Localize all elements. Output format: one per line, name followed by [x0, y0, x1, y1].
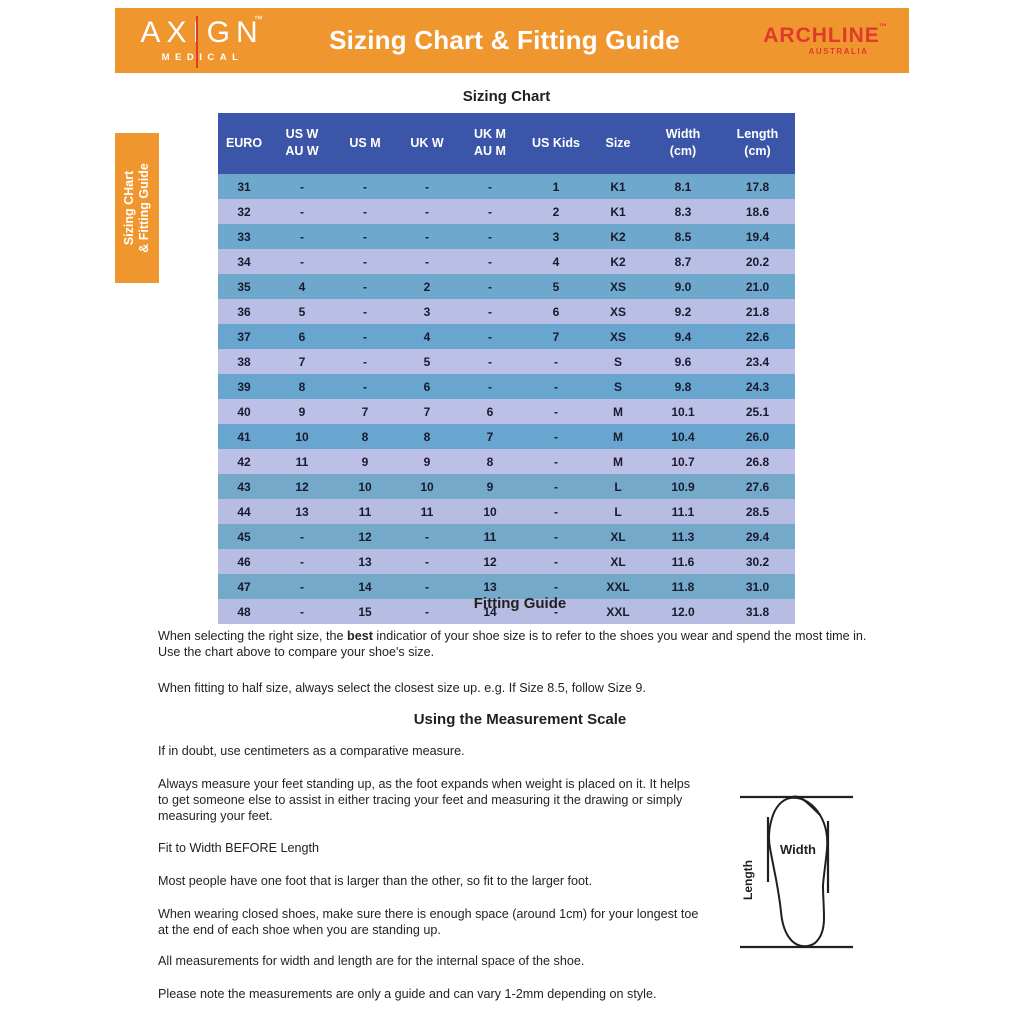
table-cell: -	[458, 249, 522, 274]
table-cell: 9.6	[646, 349, 720, 374]
column-header-euro: EURO	[218, 113, 270, 174]
table-cell: 13	[270, 499, 334, 524]
table-cell: K2	[590, 249, 646, 274]
table-row: 398-6--S9.824.3	[218, 374, 795, 399]
table-cell: -	[522, 524, 590, 549]
table-cell: 25.1	[720, 399, 795, 424]
column-header-line: US W	[270, 127, 334, 142]
table-cell: 27.6	[720, 474, 795, 499]
table-cell: 8.1	[646, 174, 720, 199]
column-header-line: EURO	[218, 136, 270, 151]
table-cell: -	[522, 349, 590, 374]
table-cell: 26.0	[720, 424, 795, 449]
table-cell: 35	[218, 274, 270, 299]
column-header-line: US Kids	[522, 136, 590, 151]
table-cell: 22.6	[720, 324, 795, 349]
table-cell: 40	[218, 399, 270, 424]
measurement-paragraph-1: If in doubt, use centimeters as a compar…	[158, 743, 876, 759]
table-cell: 10	[270, 424, 334, 449]
column-header-line: UK W	[396, 136, 458, 151]
table-cell: 24.3	[720, 374, 795, 399]
table-cell: K1	[590, 199, 646, 224]
table-cell: 31	[218, 174, 270, 199]
table-cell: 11.1	[646, 499, 720, 524]
table-cell: -	[396, 199, 458, 224]
table-cell: 26.8	[720, 449, 795, 474]
table-cell: K1	[590, 174, 646, 199]
table-row: 409776-M10.125.1	[218, 399, 795, 424]
fitting-guide-p1-emphasis: best	[347, 629, 373, 643]
table-cell: -	[522, 424, 590, 449]
table-cell: 9	[334, 449, 396, 474]
column-header-us-m: US M	[334, 113, 396, 174]
measurement-paragraph-4: Most people have one foot that is larger…	[158, 873, 703, 889]
table-row: 365-3-6XS9.221.8	[218, 299, 795, 324]
axign-medical-logo: AXIGN™ MEDICAL	[115, 18, 285, 63]
table-cell: 7	[334, 399, 396, 424]
table-cell: 28.5	[720, 499, 795, 524]
table-cell: -	[396, 174, 458, 199]
table-cell: 10	[396, 474, 458, 499]
table-cell: 42	[218, 449, 270, 474]
archline-subtitle: AUSTRALIA	[768, 48, 909, 56]
table-cell: 6	[396, 374, 458, 399]
table-cell: 32	[218, 199, 270, 224]
table-cell: K2	[590, 224, 646, 249]
sizing-chart-head: EUROUS WAU WUS MUK WUK MAU MUS KidsSizeW…	[218, 113, 795, 174]
table-cell: -	[334, 249, 396, 274]
table-cell: S	[590, 349, 646, 374]
side-tab-label-line2: & Fitting Guide	[137, 163, 152, 253]
table-cell: XS	[590, 299, 646, 324]
column-header-width: Width(cm)	[646, 113, 720, 174]
foot-width-label: Width	[780, 842, 816, 857]
table-cell: -	[334, 274, 396, 299]
table-cell: M	[590, 399, 646, 424]
table-cell: -	[522, 499, 590, 524]
table-cell: 8.7	[646, 249, 720, 274]
table-cell: 11.6	[646, 549, 720, 574]
table-cell: -	[334, 324, 396, 349]
table-cell: 8.3	[646, 199, 720, 224]
column-header-us-w: US WAU W	[270, 113, 334, 174]
column-header-length: Length(cm)	[720, 113, 795, 174]
table-cell: 10	[458, 499, 522, 524]
column-header-line: Width	[646, 127, 720, 142]
column-header-size: Size	[590, 113, 646, 174]
table-cell: 23.4	[720, 349, 795, 374]
table-cell: 6	[270, 324, 334, 349]
table-cell: 20.2	[720, 249, 795, 274]
table-cell: 5	[270, 299, 334, 324]
table-cell: 11	[334, 499, 396, 524]
archline-trademark-icon: ™	[879, 23, 888, 31]
table-cell: 44	[218, 499, 270, 524]
table-cell: -	[458, 224, 522, 249]
table-cell: 4	[270, 274, 334, 299]
column-header-line: UK M	[458, 127, 522, 142]
sizing-chart-title: Sizing Chart	[218, 88, 795, 105]
table-cell: -	[396, 524, 458, 549]
archline-wordmark: ARCHLINE™	[763, 25, 880, 46]
table-cell: 11	[458, 524, 522, 549]
table-cell: 9.4	[646, 324, 720, 349]
side-tab-sizing-chart[interactable]: Sizing CHart & Fitting Guide	[115, 133, 159, 283]
measurement-paragraph-7: Please note the measurements are only a …	[158, 986, 703, 1002]
table-cell: 41	[218, 424, 270, 449]
table-cell: 3	[522, 224, 590, 249]
table-cell: 6	[458, 399, 522, 424]
table-cell: 9	[396, 449, 458, 474]
table-cell: 8	[334, 424, 396, 449]
table-cell: 5	[396, 349, 458, 374]
table-cell: 4	[396, 324, 458, 349]
table-cell: -	[334, 374, 396, 399]
table-row: 4110887-M10.426.0	[218, 424, 795, 449]
table-cell: 6	[522, 299, 590, 324]
table-cell: 43	[218, 474, 270, 499]
archline-wordmark-text: ARCHLINE	[763, 24, 880, 47]
table-cell: -	[458, 199, 522, 224]
table-cell: -	[458, 349, 522, 374]
column-header-line: (cm)	[720, 144, 795, 159]
table-cell: 2	[396, 274, 458, 299]
table-cell: 9.8	[646, 374, 720, 399]
table-cell: -	[334, 224, 396, 249]
column-header-line: Length	[720, 127, 795, 142]
table-cell: -	[334, 299, 396, 324]
table-cell: 3	[396, 299, 458, 324]
fitting-guide-p1-part1: When selecting the right size, the	[158, 629, 347, 643]
table-cell: 4	[522, 249, 590, 274]
table-cell: 12	[334, 524, 396, 549]
fitting-guide-paragraph-2: When fitting to half size, always select…	[158, 680, 876, 696]
table-row: 387-5--S9.623.4	[218, 349, 795, 374]
table-cell: 37	[218, 324, 270, 349]
archline-australia-logo: ARCHLINE™ AUSTRALIA	[734, 25, 909, 56]
table-cell: 5	[522, 274, 590, 299]
table-cell: XS	[590, 324, 646, 349]
table-cell: -	[334, 349, 396, 374]
page-header: AXIGN™ MEDICAL Sizing Chart & Fitting Gu…	[115, 8, 909, 73]
table-header-row: EUROUS WAU WUS MUK WUK MAU MUS KidsSizeW…	[218, 113, 795, 174]
table-cell: 19.4	[720, 224, 795, 249]
table-cell: 46	[218, 549, 270, 574]
table-cell: 29.4	[720, 524, 795, 549]
table-cell: 9.2	[646, 299, 720, 324]
measurement-scale-title: Using the Measurement Scale	[150, 711, 890, 728]
table-cell: -	[458, 274, 522, 299]
table-cell: 10	[334, 474, 396, 499]
table-cell: -	[270, 224, 334, 249]
table-cell: 11.3	[646, 524, 720, 549]
axign-subtitle: MEDICAL	[115, 53, 285, 63]
column-header-line: Size	[590, 136, 646, 151]
table-cell: 21.8	[720, 299, 795, 324]
table-cell: -	[396, 224, 458, 249]
table-cell: -	[522, 374, 590, 399]
table-cell: S	[590, 374, 646, 399]
table-cell: 12	[458, 549, 522, 574]
table-cell: 1	[522, 174, 590, 199]
table-cell: 7	[522, 324, 590, 349]
table-cell: 39	[218, 374, 270, 399]
table-cell: XL	[590, 524, 646, 549]
table-cell: 13	[334, 549, 396, 574]
table-cell: 34	[218, 249, 270, 274]
table-cell: -	[396, 249, 458, 274]
table-cell: 8	[458, 449, 522, 474]
axign-red-bar-icon	[196, 16, 198, 68]
side-tab-label-line1: Sizing CHart	[122, 163, 137, 253]
foot-length-label: Length	[741, 860, 755, 900]
table-cell: XL	[590, 549, 646, 574]
column-header-us-kids: US Kids	[522, 113, 590, 174]
table-cell: XS	[590, 274, 646, 299]
axign-trademark-icon: ™	[254, 15, 263, 24]
table-cell: 17.8	[720, 174, 795, 199]
table-cell: -	[334, 199, 396, 224]
table-cell: -	[270, 199, 334, 224]
table-cell: L	[590, 499, 646, 524]
table-cell: 9.0	[646, 274, 720, 299]
measurement-paragraph-6: All measurements for width and length ar…	[158, 953, 703, 969]
table-cell: 8	[396, 424, 458, 449]
table-cell: 7	[396, 399, 458, 424]
column-header-line: US M	[334, 136, 396, 151]
column-header-uk-w: UK W	[396, 113, 458, 174]
table-row: 34----4K28.720.2	[218, 249, 795, 274]
table-row: 431210109-L10.927.6	[218, 474, 795, 499]
measurement-paragraph-3: Fit to Width BEFORE Length	[158, 840, 703, 856]
table-row: 354-2-5XS9.021.0	[218, 274, 795, 299]
foot-measurement-diagram: Width Length	[735, 785, 900, 960]
table-cell: -	[270, 524, 334, 549]
table-cell: 7	[458, 424, 522, 449]
table-cell: 38	[218, 349, 270, 374]
sizing-chart-table: EUROUS WAU WUS MUK WUK MAU MUS KidsSizeW…	[218, 113, 795, 624]
table-cell: 11	[396, 499, 458, 524]
table-row: 4413111110-L11.128.5	[218, 499, 795, 524]
table-cell: -	[522, 449, 590, 474]
sizing-chart-body: 31----1K18.117.832----2K18.318.633----3K…	[218, 174, 795, 624]
column-header-uk-m: UK MAU M	[458, 113, 522, 174]
table-cell: -	[522, 399, 590, 424]
table-cell: -	[270, 549, 334, 574]
fitting-guide-title: Fitting Guide	[150, 595, 890, 612]
table-cell: -	[522, 549, 590, 574]
foot-outline-icon: Width Length	[735, 785, 900, 960]
table-cell: M	[590, 449, 646, 474]
table-cell: -	[458, 174, 522, 199]
table-cell: 33	[218, 224, 270, 249]
table-row: 31----1K18.117.8	[218, 174, 795, 199]
fitting-guide-paragraph-1: When selecting the right size, the best …	[158, 628, 876, 660]
table-cell: -	[270, 249, 334, 274]
page-title: Sizing Chart & Fitting Guide	[285, 25, 734, 56]
table-cell: 30.2	[720, 549, 795, 574]
table-cell: -	[396, 549, 458, 574]
table-cell: 8	[270, 374, 334, 399]
table-row: 32----2K18.318.6	[218, 199, 795, 224]
column-header-line: (cm)	[646, 144, 720, 159]
table-cell: -	[458, 324, 522, 349]
table-cell: 2	[522, 199, 590, 224]
table-cell: -	[458, 374, 522, 399]
table-cell: 10.9	[646, 474, 720, 499]
table-cell: 7	[270, 349, 334, 374]
table-cell: 11	[270, 449, 334, 474]
table-cell: 12	[270, 474, 334, 499]
measurement-paragraph-2: Always measure your feet standing up, as…	[158, 776, 703, 824]
table-cell: M	[590, 424, 646, 449]
table-cell: 36	[218, 299, 270, 324]
table-cell: 9	[270, 399, 334, 424]
table-row: 4211998-M10.726.8	[218, 449, 795, 474]
table-cell: 21.0	[720, 274, 795, 299]
table-row: 33----3K28.519.4	[218, 224, 795, 249]
table-cell: 10.4	[646, 424, 720, 449]
side-tab-label: Sizing CHart & Fitting Guide	[122, 163, 152, 253]
table-cell: 18.6	[720, 199, 795, 224]
table-row: 376-4-7XS9.422.6	[218, 324, 795, 349]
column-header-line: AU W	[270, 144, 334, 159]
table-cell: -	[458, 299, 522, 324]
table-cell: 10.7	[646, 449, 720, 474]
table-cell: 10.1	[646, 399, 720, 424]
measurement-paragraph-5: When wearing closed shoes, make sure the…	[158, 906, 703, 938]
table-cell: -	[270, 174, 334, 199]
table-cell: 9	[458, 474, 522, 499]
table-cell: -	[522, 474, 590, 499]
column-header-line: AU M	[458, 144, 522, 159]
table-cell: 45	[218, 524, 270, 549]
table-cell: L	[590, 474, 646, 499]
table-row: 46-13-12-XL11.630.2	[218, 549, 795, 574]
table-cell: 8.5	[646, 224, 720, 249]
page-root: AXIGN™ MEDICAL Sizing Chart & Fitting Gu…	[0, 0, 1024, 1024]
table-row: 45-12-11-XL11.329.4	[218, 524, 795, 549]
axign-wordmark: AXIGN™	[136, 18, 263, 48]
axign-wordmark-text: AXIGN	[140, 16, 263, 49]
table-cell: -	[334, 174, 396, 199]
